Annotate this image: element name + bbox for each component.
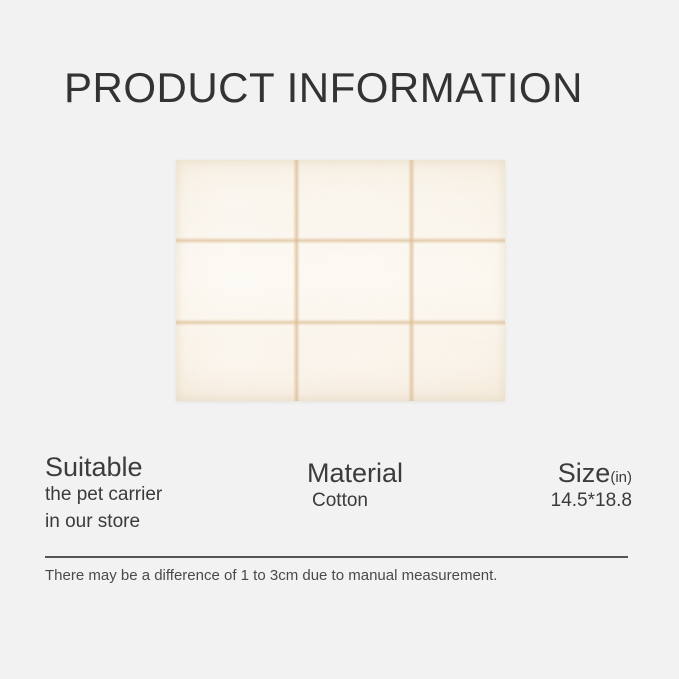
page-title: PRODUCT INFORMATION (64, 64, 624, 112)
quilt-seam-vertical (408, 160, 415, 401)
spec-label-size-text: Size (558, 458, 611, 488)
divider (45, 556, 628, 558)
quilt-seam-vertical (293, 160, 300, 401)
measurement-disclaimer: There may be a difference of 1 to 3cm du… (45, 567, 645, 584)
spec-column-size: Size(in) 14.5*18.8 (551, 458, 632, 515)
spec-label-material: Material (307, 458, 403, 488)
spec-label-suitable: Suitable (45, 452, 162, 482)
spec-column-material: Material Cotton (307, 458, 403, 515)
quilt-panels (176, 160, 505, 401)
quilt-seam-horizontal (176, 237, 505, 244)
spec-value-size: 14.5*18.8 (551, 488, 632, 515)
spec-columns: Suitable the pet carrier in our store Ma… (0, 452, 679, 548)
spec-label-size: Size(in) (551, 458, 632, 488)
spec-value-suitable-line-2: in our store (45, 509, 162, 536)
spec-column-suitable: Suitable the pet carrier in our store (45, 452, 162, 536)
spec-label-size-unit: (in) (610, 469, 632, 486)
spec-value-material: Cotton (307, 488, 403, 515)
spec-value-suitable-line-1: the pet carrier (45, 482, 162, 509)
quilt-seam-horizontal (176, 319, 505, 326)
product-image (176, 160, 505, 401)
product-information-page: { "page": { "title": "PRODUCT INFORMATIO… (0, 0, 679, 679)
